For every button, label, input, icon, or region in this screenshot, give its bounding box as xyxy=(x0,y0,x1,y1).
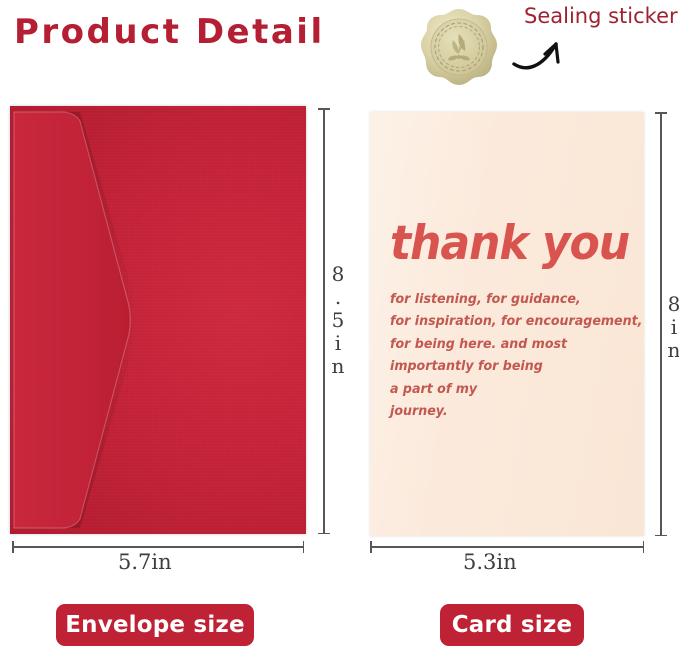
card-size-badge: Card size xyxy=(440,604,584,646)
envelope-image xyxy=(10,106,306,534)
card-message-line: for being here. and most xyxy=(390,334,628,356)
card-message-line: for listening, for guidance, xyxy=(390,289,628,311)
envelope-height-label: 8.5in xyxy=(326,262,350,377)
envelope-width-label: 5.7in xyxy=(118,550,172,574)
sealing-sticker-label: Sealing sticker xyxy=(524,4,678,28)
envelope-flap xyxy=(10,106,306,534)
page-title: Product Detail xyxy=(14,12,325,52)
envelope-size-badge: Envelope size xyxy=(56,604,254,646)
wax-seal-icon xyxy=(417,7,501,89)
card-message-line: journey. xyxy=(390,401,628,423)
card-width-label: 5.3in xyxy=(463,550,517,574)
card-message-line: importantly for being xyxy=(390,356,628,378)
card-message: for listening, for guidance, for inspira… xyxy=(390,289,628,423)
card-height-label: 8in xyxy=(662,292,679,361)
card-headline: thank you xyxy=(390,216,629,271)
thank-you-card-image: thank you for listening, for guidance, f… xyxy=(370,112,644,536)
card-message-line: a part of my xyxy=(390,379,628,401)
card-message-line: for inspiration, for encouragement, xyxy=(390,311,628,333)
curved-arrow-up-right-icon xyxy=(512,36,574,78)
